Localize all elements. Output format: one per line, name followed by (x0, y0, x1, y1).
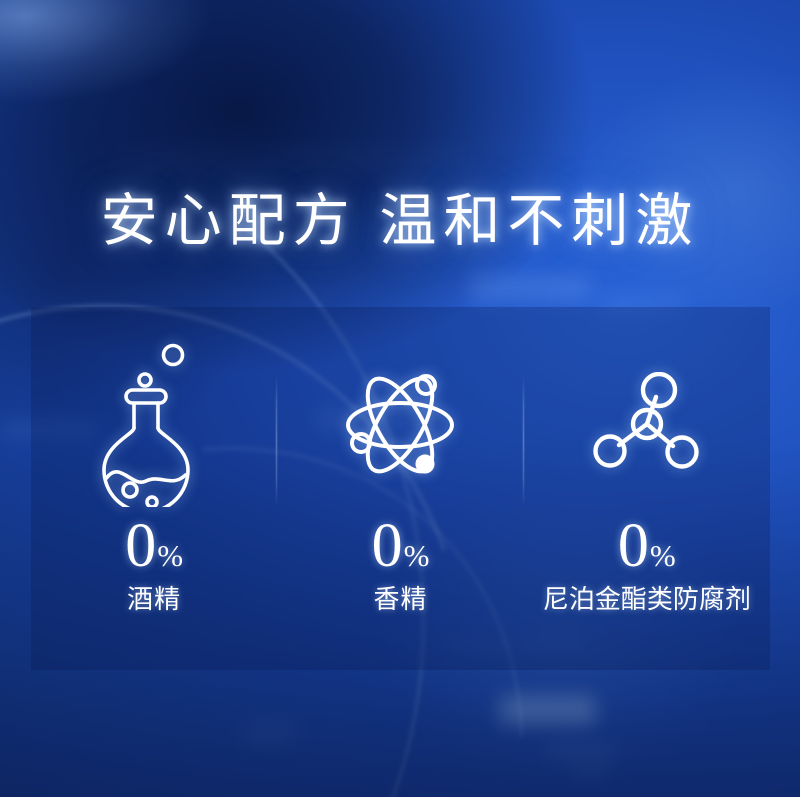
feature-label: 尼泊金酯类防腐剂 (543, 584, 751, 614)
zero-value: 0 (618, 518, 649, 574)
bokeh-rect (270, 150, 470, 170)
feature-column-preservative: 0 % 尼泊金酯类防腐剂 (524, 307, 770, 670)
feature-column-fragrance: 0 % 香精 (277, 307, 523, 670)
page-title: 安心配方 温和不刺激 (0, 186, 800, 256)
molecule-icon (592, 337, 702, 512)
zero-value: 0 (372, 518, 403, 574)
zero-value: 0 (125, 518, 156, 574)
percent-symbol: % (157, 540, 183, 571)
flask-icon (94, 337, 214, 512)
bokeh-rect (545, 745, 617, 757)
feature-label: 香精 (373, 584, 427, 614)
bokeh-rect (470, 275, 590, 301)
feature-column-alcohol: 0 % 酒精 (31, 307, 277, 670)
zero-value-row: 0 % (618, 518, 676, 574)
bokeh-rect (120, 150, 270, 186)
percent-symbol: % (650, 540, 676, 571)
zero-value-row: 0 % (372, 518, 430, 574)
bokeh-rect (570, 765, 610, 777)
bokeh-glow (240, 720, 298, 744)
feature-columns: 0 % 酒精 0 (31, 307, 770, 670)
feature-label: 酒精 (127, 584, 181, 614)
atom-icon (341, 337, 459, 512)
percent-symbol: % (404, 540, 430, 571)
zero-value-row: 0 % (125, 518, 183, 574)
promo-banner: 安心配方 温和不刺激 (0, 0, 800, 797)
bokeh-rect (500, 695, 596, 725)
